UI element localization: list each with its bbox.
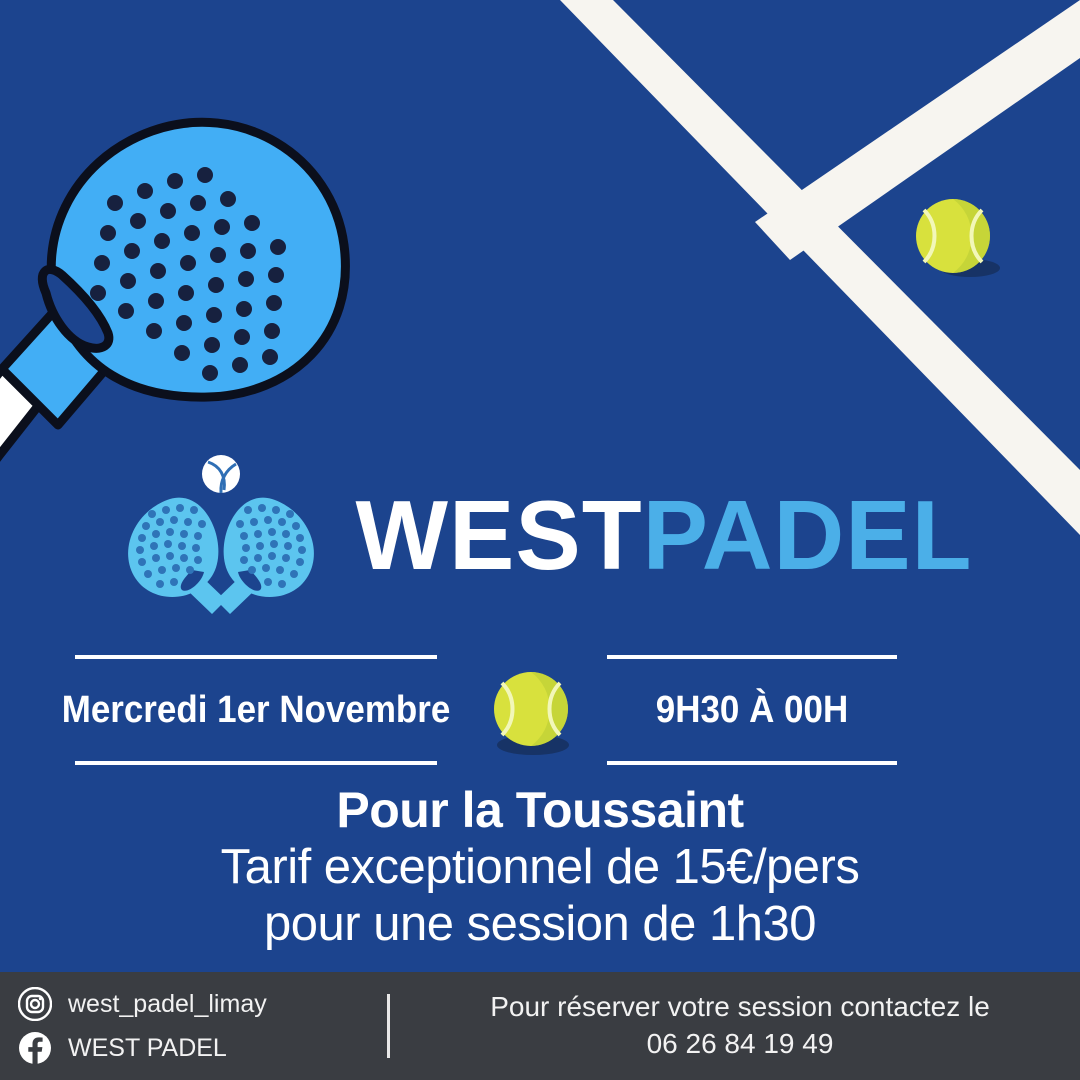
footer-divider	[387, 994, 390, 1058]
padel-racket-illustration	[0, 95, 370, 495]
padel-promo-poster: WESTPADEL Mercredi 1er Novembre 9H30 À 0…	[0, 0, 1080, 1080]
brand-wordmark: WESTPADEL	[356, 486, 973, 584]
offer-headline: Pour la Toussaint	[0, 782, 1080, 839]
instagram-icon	[18, 987, 52, 1021]
contact-instruction: Pour réserver votre session contactez le	[490, 989, 990, 1026]
offer-line-two: pour une session de 1h30	[0, 896, 1080, 953]
date-rule-bottom	[75, 761, 437, 765]
offer-line-one: Tarif exceptionnel de 15€/pers	[0, 839, 1080, 896]
event-strip: Mercredi 1er Novembre 9H30 À 00H	[0, 655, 1080, 765]
event-hours-block: 9H30 À 00H	[607, 655, 897, 765]
hours-rule-bottom	[607, 761, 897, 765]
facebook-icon	[18, 1031, 52, 1065]
brand-word-west: WEST	[356, 480, 643, 590]
brand-word-padel: PADEL	[643, 480, 973, 590]
facebook-page-name: WEST PADEL	[68, 1034, 227, 1063]
event-date-text: Mercredi 1er Novembre	[89, 659, 422, 761]
logo-racket-left	[128, 498, 226, 614]
instagram-handle: west_padel_limay	[68, 990, 267, 1019]
offer-block: Pour la Toussaint Tarif exceptionnel de …	[0, 782, 1080, 954]
crossed-padel-rackets-icon	[108, 452, 334, 622]
logo-racket-right	[216, 498, 314, 614]
tennis-ball-strip-icon	[485, 665, 581, 761]
event-hours-text: 9H30 À 00H	[619, 659, 886, 761]
tennis-ball-court-icon	[908, 192, 1004, 288]
contact-block: Pour réserver votre session contactez le…	[420, 972, 1060, 1080]
logo-ball-icon	[202, 455, 240, 493]
footer-bar: west_padel_limay WEST PADEL Pour réserve…	[0, 972, 1080, 1080]
contact-phone-number[interactable]: 06 26 84 19 49	[647, 1026, 834, 1063]
social-links: west_padel_limay WEST PADEL	[18, 972, 267, 1080]
event-date-block: Mercredi 1er Novembre	[75, 655, 437, 765]
social-link-instagram[interactable]: west_padel_limay	[18, 987, 267, 1021]
brand-block: WESTPADEL	[0, 452, 1080, 622]
social-link-facebook[interactable]: WEST PADEL	[18, 1031, 267, 1065]
